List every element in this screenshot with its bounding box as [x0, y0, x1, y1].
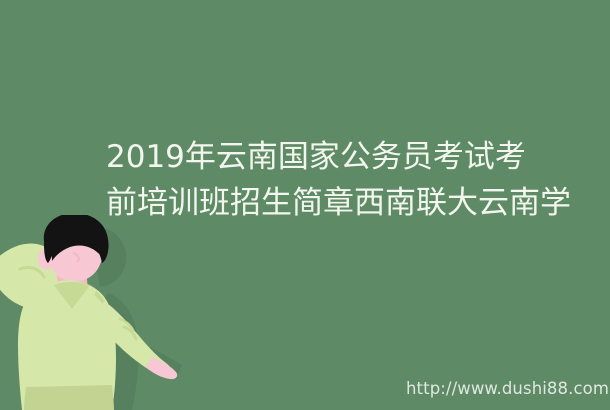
pants — [24, 385, 114, 410]
watermark-url: http://www.dushi88.com.cn — [406, 379, 610, 399]
promo-banner: 2019年云南国家公务员考试考 前培训班招生简章西南联大云南学 http://w… — [0, 0, 610, 410]
banner-title: 2019年云南国家公务员考试考 前培训班招生简章西南联大云南学 — [106, 134, 606, 230]
title-line-1: 2019年云南国家公务员考试考 — [106, 134, 606, 180]
title-line-2: 前培训班招生简章西南联大云南学 — [106, 180, 606, 226]
person-scratching-head-illustration — [0, 215, 200, 410]
